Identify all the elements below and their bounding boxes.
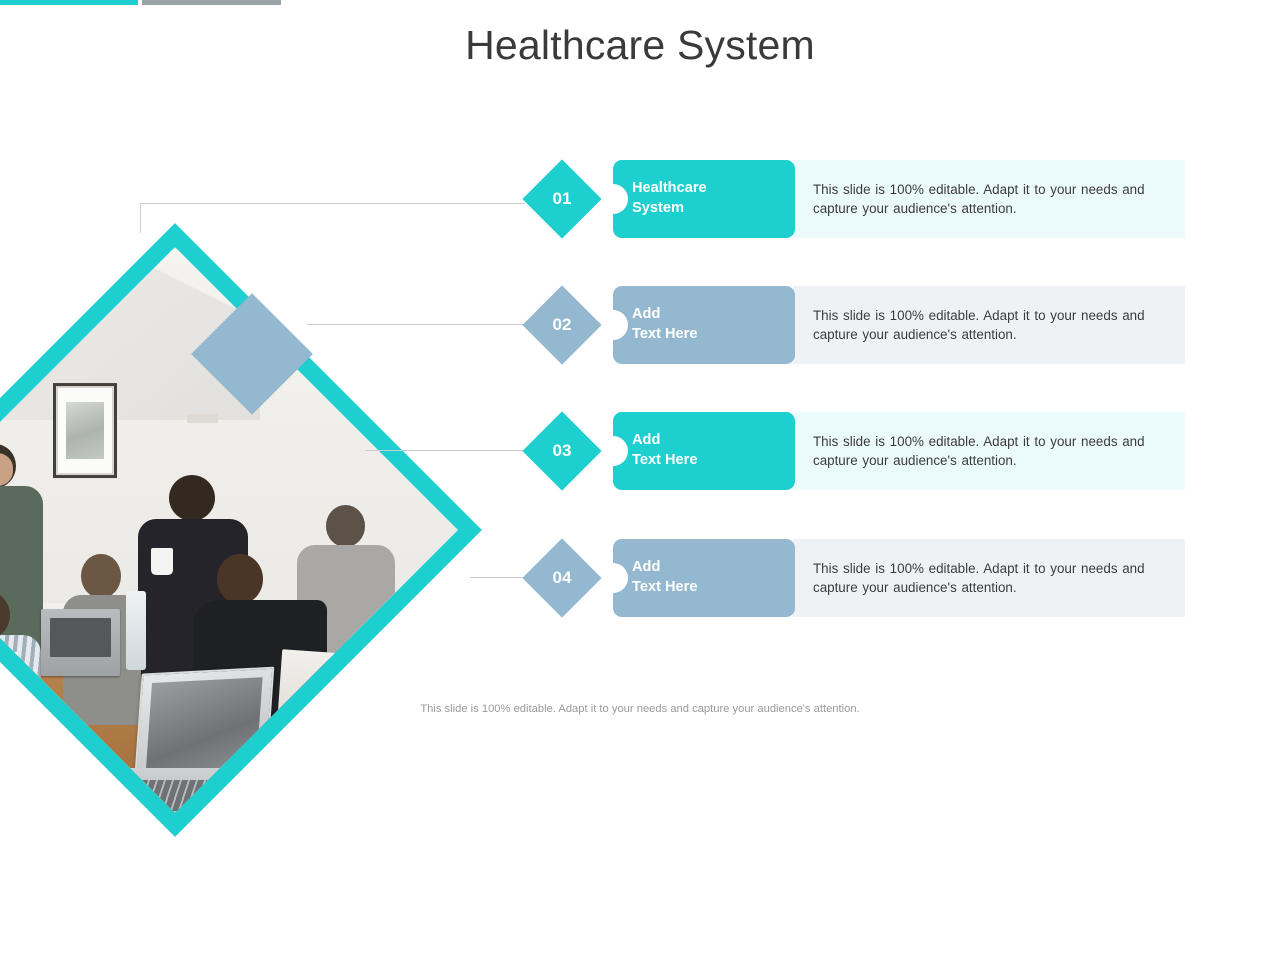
row-label-box[interactable]: Add Text Here (613, 412, 795, 490)
row-number-diamond[interactable]: 04 (523, 539, 601, 617)
connector-line-03 (365, 450, 525, 451)
row-label: Add Text Here (632, 558, 697, 597)
row-label-box[interactable]: Healthcare System (613, 160, 795, 238)
bottom-caption: This slide is 100% editable. Adapt it to… (0, 703, 1280, 715)
row-number: 04 (523, 539, 601, 617)
connector-line-04 (470, 577, 525, 578)
row-number: 01 (523, 160, 601, 238)
row-label: Add Text Here (632, 431, 697, 470)
row-label-box[interactable]: Add Text Here (613, 539, 795, 617)
row-body-text: This slide is 100% editable. Adapt it to… (813, 432, 1171, 470)
row-text-panel: This slide is 100% editable. Adapt it to… (793, 539, 1185, 617)
row-body-text: This slide is 100% editable. Adapt it to… (813, 306, 1171, 344)
row-body-text: This slide is 100% editable. Adapt it to… (813, 559, 1171, 597)
connector-line-01 (140, 203, 525, 204)
row-label: Healthcare System (632, 179, 707, 218)
row-label: Add Text Here (632, 305, 697, 344)
list-item[interactable]: This slide is 100% editable. Adapt it to… (523, 160, 1185, 238)
wall-picture-frame (53, 383, 117, 477)
row-number-diamond[interactable]: 01 (523, 160, 601, 238)
row-text-panel: This slide is 100% editable. Adapt it to… (793, 412, 1185, 490)
connector-line-01-vertical (140, 203, 141, 233)
accent-bar-gray (142, 0, 281, 5)
row-number: 03 (523, 412, 601, 490)
row-text-panel: This slide is 100% editable. Adapt it to… (793, 286, 1185, 364)
row-number-diamond[interactable]: 03 (523, 412, 601, 490)
list-item[interactable]: This slide is 100% editable. Adapt it to… (523, 539, 1185, 617)
row-number: 02 (523, 286, 601, 364)
row-body-text: This slide is 100% editable. Adapt it to… (813, 180, 1171, 218)
list-item[interactable]: This slide is 100% editable. Adapt it to… (523, 412, 1185, 490)
row-text-panel: This slide is 100% editable. Adapt it to… (793, 160, 1185, 238)
connector-line-02 (307, 324, 525, 325)
accent-bar-teal (0, 0, 138, 5)
page-title: Healthcare System (0, 22, 1280, 69)
row-number-diamond[interactable]: 02 (523, 286, 601, 364)
row-label-box[interactable]: Add Text Here (613, 286, 795, 364)
list-item[interactable]: This slide is 100% editable. Adapt it to… (523, 286, 1185, 364)
